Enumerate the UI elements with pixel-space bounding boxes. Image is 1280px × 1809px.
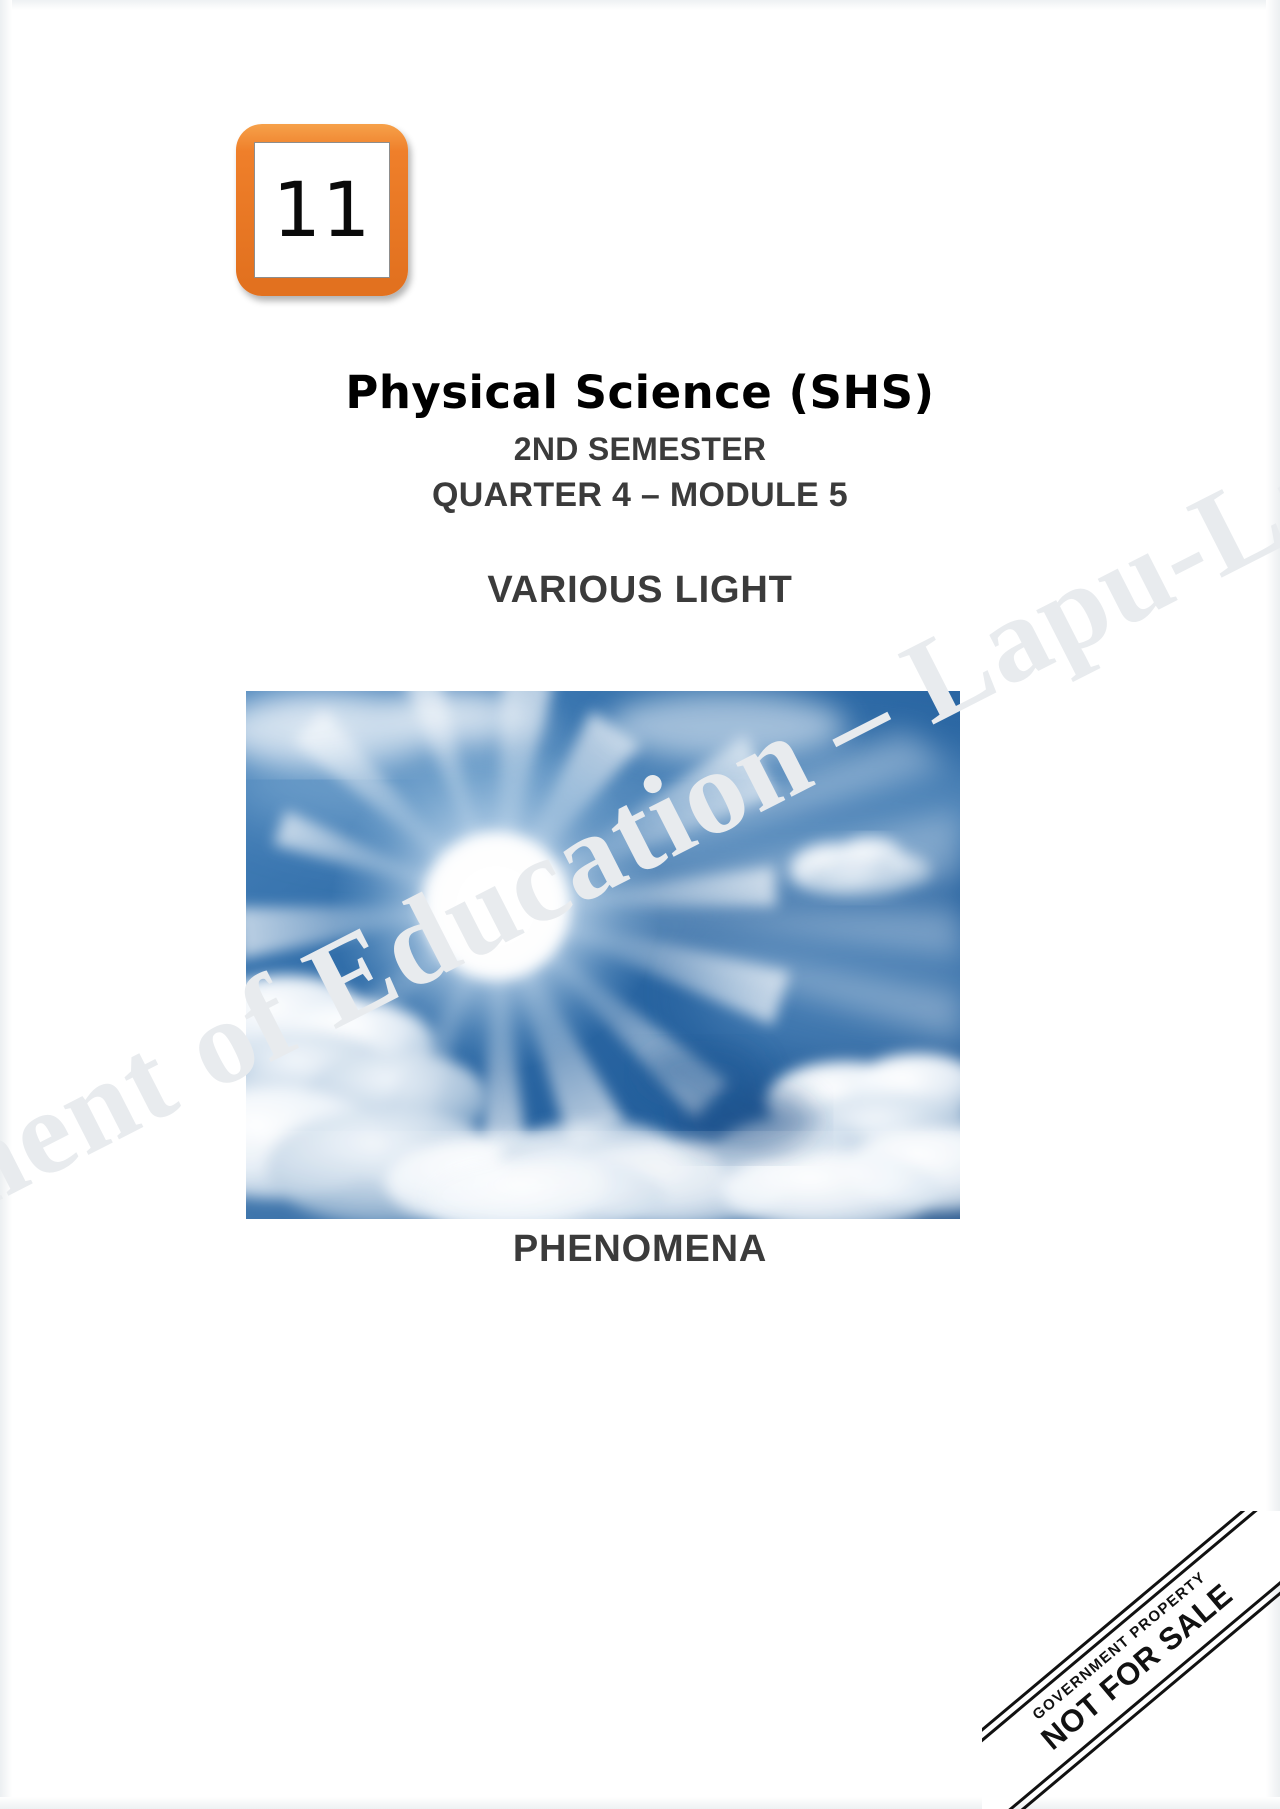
page-edge-shadow-right	[1266, 0, 1280, 1809]
government-property-stamp: GOVERNMENT PROPERTY NOT FOR SALE	[982, 1511, 1280, 1809]
sun-through-clouds-image	[246, 691, 960, 1219]
stamp-band: GOVERNMENT PROPERTY NOT FOR SALE	[982, 1511, 1280, 1809]
page-edge-shadow-top	[0, 0, 1280, 10]
page-edge-shadow-left	[0, 0, 12, 1809]
module-cover-page: 11 Physical Science (SHS) 2ND SEMESTER Q…	[0, 0, 1280, 1809]
stamp-line-not-for-sale: NOT FOR SALE	[982, 1515, 1280, 1809]
grade-level-number: 11	[273, 172, 372, 248]
photo-caption: PHENOMENA	[0, 1228, 1280, 1271]
quarter-module-label: QUARTER 4 – MODULE 5	[0, 475, 1280, 516]
semester-label: 2ND SEMESTER	[0, 430, 1280, 468]
topic-heading: VARIOUS LIGHT	[0, 568, 1280, 614]
grade-level-badge-inner: 11	[254, 142, 390, 278]
stamp-line-government-property: GOVERNMENT PROPERTY	[982, 1511, 1280, 1791]
cover-photo	[246, 691, 960, 1219]
page-title: Physical Science (SHS)	[0, 368, 1280, 418]
cover-headings: Physical Science (SHS) 2ND SEMESTER QUAR…	[0, 368, 1280, 613]
page-edge-shadow-bottom	[0, 1797, 1280, 1809]
grade-level-badge: 11	[236, 124, 408, 296]
